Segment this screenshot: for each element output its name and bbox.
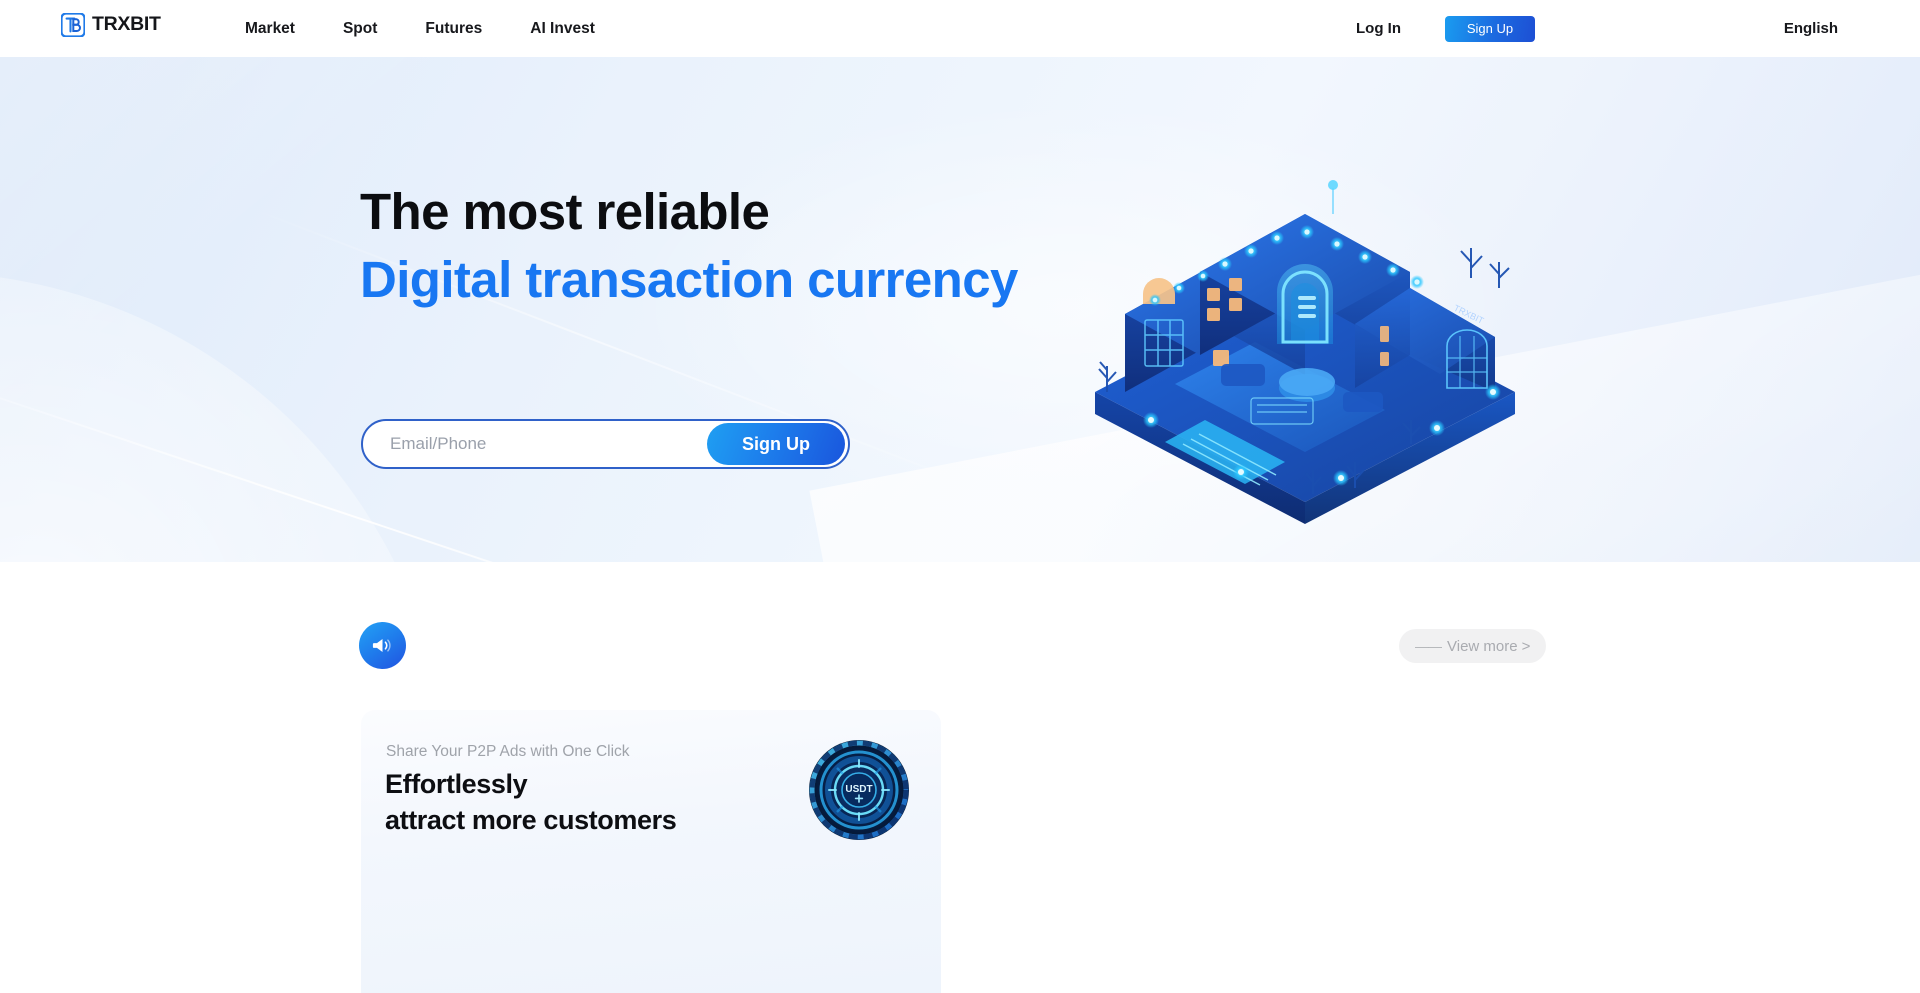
language-selector[interactable]: English bbox=[1784, 20, 1838, 37]
view-more-button[interactable]: —— View more > bbox=[1399, 629, 1546, 663]
isometric-bank-building-illustration: TRXBIT bbox=[1055, 92, 1555, 532]
usdt-label: USDT bbox=[845, 784, 872, 795]
usdt-hud-circle-icon: USDT bbox=[807, 738, 911, 842]
megaphone-icon[interactable] bbox=[359, 622, 406, 669]
nav-item-ai-invest[interactable]: AI Invest bbox=[530, 21, 595, 37]
view-more-label: View more bbox=[1447, 639, 1518, 654]
promo-title-line2: attract more customers bbox=[385, 803, 676, 839]
hero-section: The most reliable Digital transaction cu… bbox=[0, 57, 1920, 562]
hero-signup-form: Sign Up bbox=[361, 419, 850, 469]
login-link[interactable]: Log In bbox=[1356, 20, 1401, 37]
brand-name: TRXBIT bbox=[92, 15, 161, 35]
promo-card-p2p-ads[interactable]: Share Your P2P Ads with One Click Effort… bbox=[361, 710, 941, 993]
trxbit-logo-icon bbox=[61, 13, 85, 37]
promo-title-line1: Effortlessly bbox=[385, 767, 676, 803]
nav-item-futures[interactable]: Futures bbox=[425, 21, 482, 37]
hero-bg-band-top-left bbox=[0, 57, 1016, 562]
hero-signup-button[interactable]: Sign Up bbox=[707, 423, 845, 465]
header-signup-button[interactable]: Sign Up bbox=[1445, 16, 1535, 42]
hero-bg-swoop bbox=[0, 272, 450, 562]
brand-logo[interactable]: TRXBIT bbox=[61, 13, 161, 37]
hero-copy: The most reliable Digital transaction cu… bbox=[360, 182, 1018, 309]
promo-eyebrow: Share Your P2P Ads with One Click bbox=[386, 743, 630, 761]
view-more-dashes: —— bbox=[1415, 639, 1441, 653]
hero-headline-line2: Digital transaction currency bbox=[360, 250, 1018, 309]
chevron-right-icon: > bbox=[1522, 639, 1531, 654]
site-header: TRXBIT Market Spot Futures AI Invest Log… bbox=[0, 0, 1920, 57]
announcement-row: —— View more > bbox=[0, 622, 1920, 672]
email-phone-input[interactable] bbox=[363, 421, 707, 467]
nav-item-market[interactable]: Market bbox=[245, 21, 295, 37]
main-nav: Market Spot Futures AI Invest bbox=[245, 0, 595, 57]
nav-item-spot[interactable]: Spot bbox=[343, 21, 377, 37]
hero-headline-line1: The most reliable bbox=[360, 182, 1018, 241]
